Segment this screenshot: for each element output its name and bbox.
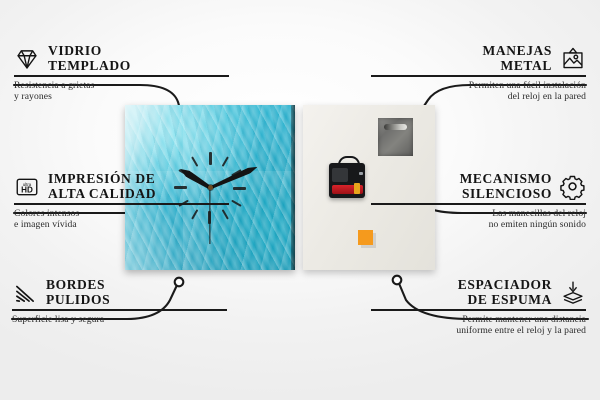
infographic-canvas: VIDRIO TEMPLADO Resistencia a grietas y … [0,0,600,400]
callout-description: Permite mantener una distancia uniforme … [371,311,586,337]
quartz-mechanism-box [329,163,365,198]
callout-description: Colores intensos e imagen vívida [14,205,229,231]
callout-description: Resistencia a grietas y rayones [14,77,229,103]
callout-title: MECANISMO SILENCIOSO [460,172,552,201]
callout-description: Permiten una fácil instalación del reloj… [371,77,586,103]
mechanism-label [332,168,349,182]
callout-title: ESPACIADOR DE ESPUMA [458,278,552,307]
callout-metal-handles: MANEJAS METAL Permiten una fácil instala… [371,44,586,103]
callout-description: Las manecillas del reloj no emiten ningú… [371,205,586,231]
gear-icon [560,174,586,200]
diagonal-lines-icon [12,280,38,306]
mechanism-hanging-loop [338,156,360,168]
callout-title: IMPRESIÓN DE ALTA CALIDAD [48,172,156,201]
callout-title: BORDES PULIDOS [46,278,110,307]
metal-hanger-plate [378,118,413,156]
callout-tempered-glass: VIDRIO TEMPLADO Resistencia a grietas y … [14,44,229,103]
battery-tip [354,183,360,194]
ultra-hd-icon: ultra HD [14,174,40,200]
callout-hd-print: ultra HD IMPRESIÓN DE ALTA CALIDAD Color… [14,172,229,231]
foam-spacer-square [358,230,373,245]
arrow-onto-layers-icon [560,280,586,306]
callout-polished-edges: BORDES PULIDOS Superficie lisa y segura [12,278,227,325]
diamond-icon [14,46,40,72]
mechanism-indicator [359,172,363,175]
callout-title: MANEJAS METAL [483,44,552,73]
framed-picture-hook-icon [560,46,586,72]
callout-description: Superficie lisa y segura [12,311,227,325]
callout-silent-mechanism: MECANISMO SILENCIOSO Las manecillas del … [371,172,586,231]
callout-title: VIDRIO TEMPLADO [48,44,131,73]
hanger-keyhole-slot [384,124,407,130]
svg-text:HD: HD [21,185,33,194]
battery-strip [332,185,364,194]
glass-edge [291,105,295,270]
callout-foam-spacer: ESPACIADOR DE ESPUMA Permite mantener un… [371,278,586,337]
